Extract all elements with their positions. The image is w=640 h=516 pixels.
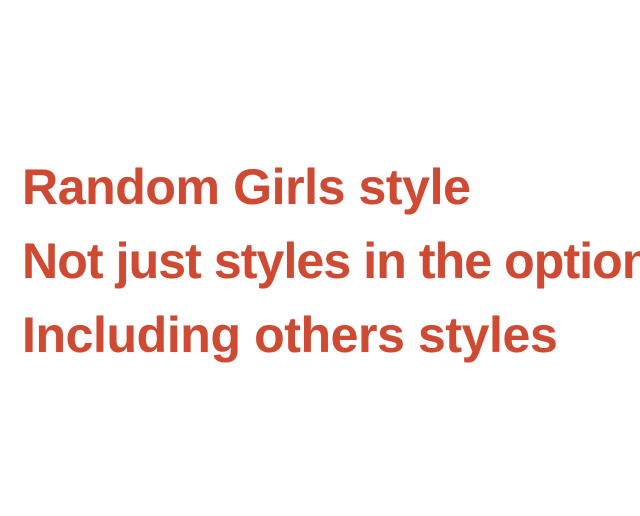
headline-line-1: Random Girls style [22,150,638,224]
text-block: Random Girls style Not just styles in th… [22,150,638,372]
headline-line-2: Not just styles in the options [22,224,638,298]
headline-line-3: Including others styles [22,298,638,372]
image-canvas: Random Girls style Not just styles in th… [0,0,640,516]
